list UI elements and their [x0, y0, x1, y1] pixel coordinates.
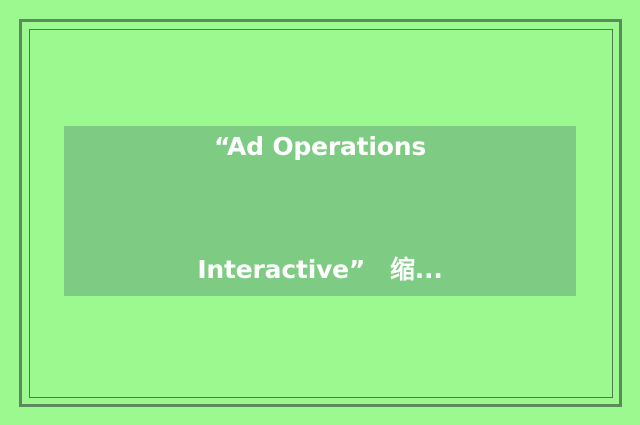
- placeholder-caption: “Ad Operations Interactive” 缩...: [64, 126, 576, 296]
- placeholder-image-panel: “Ad Operations Interactive” 缩...: [64, 126, 576, 296]
- image-placeholder-card: “Ad Operations Interactive” 缩...: [0, 0, 640, 425]
- placeholder-caption-line-2: Interactive” 缩...: [64, 249, 576, 290]
- placeholder-caption-line-1: “Ad Operations: [64, 126, 576, 167]
